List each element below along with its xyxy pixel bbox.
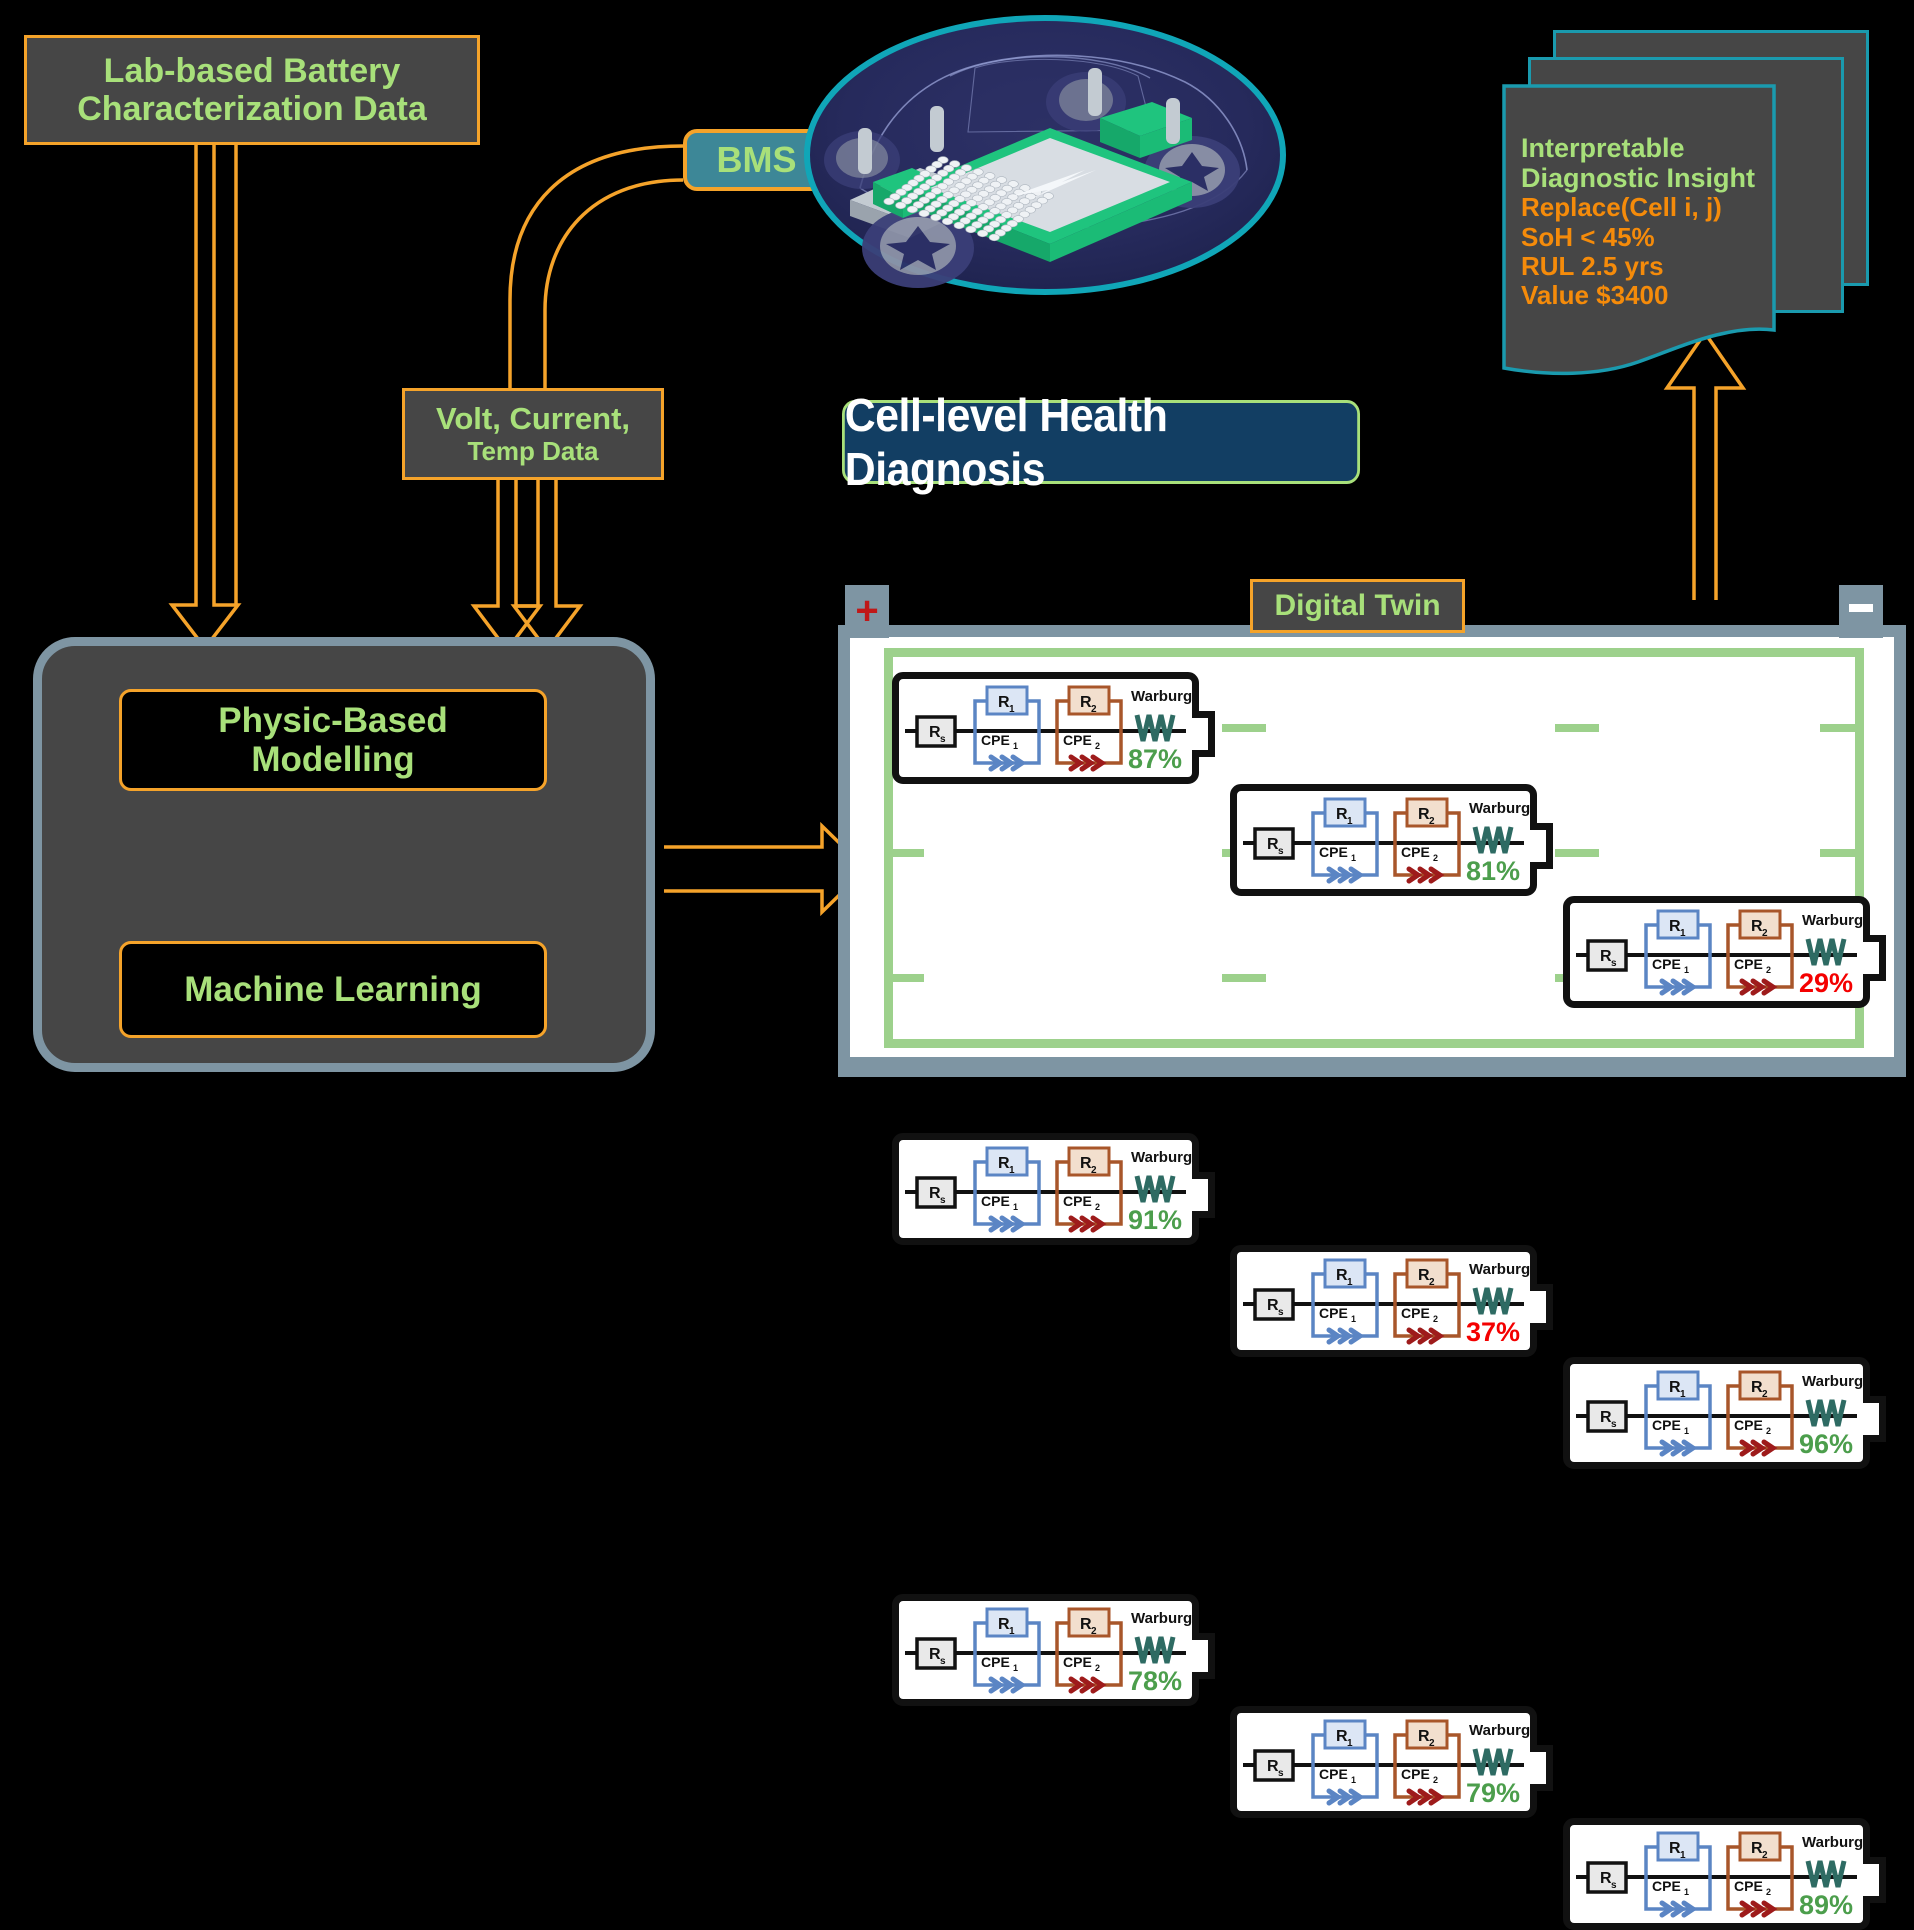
battery-terminal-nub bbox=[1530, 1745, 1553, 1791]
svg-text:Warburg: Warburg bbox=[1802, 912, 1863, 929]
svg-text:CPE: CPE bbox=[1734, 1878, 1763, 1894]
svg-text:2: 2 bbox=[1095, 1663, 1100, 1673]
svg-text:2: 2 bbox=[1433, 1314, 1438, 1324]
soh-value: 89% bbox=[1799, 1890, 1853, 1921]
svg-text:s: s bbox=[1611, 958, 1617, 969]
battery-terminal-nub bbox=[1192, 1633, 1215, 1679]
svg-text:2: 2 bbox=[1091, 1626, 1097, 1637]
svg-text:CPE: CPE bbox=[1319, 1766, 1348, 1782]
svg-text:2: 2 bbox=[1429, 816, 1435, 827]
svg-text:1: 1 bbox=[1351, 1775, 1356, 1785]
insight-heading-line2: Diagnostic Insight bbox=[1521, 163, 1821, 193]
svg-text:2: 2 bbox=[1095, 741, 1100, 751]
svg-text:Warburg: Warburg bbox=[1131, 1610, 1192, 1627]
battery-terminal-nub bbox=[1530, 1284, 1553, 1330]
svg-text:1: 1 bbox=[1347, 816, 1353, 827]
svg-text:Warburg: Warburg bbox=[1802, 1373, 1863, 1390]
svg-text:2: 2 bbox=[1091, 704, 1097, 715]
svg-text:CPE: CPE bbox=[1734, 1417, 1763, 1433]
svg-text:CPE: CPE bbox=[981, 1193, 1010, 1209]
svg-text:CPE: CPE bbox=[981, 732, 1010, 748]
battery-terminal-nub bbox=[1863, 1857, 1886, 1903]
insight-detail-3: Value $3400 bbox=[1521, 281, 1821, 310]
circuit-cell-r2c3: R s R 1 CPE 1 R 2 CPE 2 Warburg 96% bbox=[1563, 1357, 1870, 1469]
insight-detail-1: SoH < 45% bbox=[1521, 223, 1821, 252]
svg-text:2: 2 bbox=[1766, 965, 1771, 975]
svg-text:s: s bbox=[1278, 1768, 1284, 1779]
svg-text:Warburg: Warburg bbox=[1131, 1149, 1192, 1166]
battery-terminal-nub bbox=[1192, 1172, 1215, 1218]
svg-text:Warburg: Warburg bbox=[1469, 1722, 1530, 1739]
svg-text:CPE: CPE bbox=[1401, 844, 1430, 860]
svg-text:1: 1 bbox=[1684, 1426, 1689, 1436]
svg-text:1: 1 bbox=[1009, 1165, 1015, 1176]
svg-text:1: 1 bbox=[1684, 965, 1689, 975]
svg-text:2: 2 bbox=[1429, 1277, 1435, 1288]
circuit-cell-r3c1: R s R 1 CPE 1 R 2 CPE 2 Warburg 78% bbox=[892, 1594, 1199, 1706]
svg-text:Warburg: Warburg bbox=[1469, 1261, 1530, 1278]
svg-text:s: s bbox=[940, 734, 946, 745]
svg-text:CPE: CPE bbox=[1734, 956, 1763, 972]
svg-text:CPE: CPE bbox=[1319, 844, 1348, 860]
svg-text:2: 2 bbox=[1766, 1887, 1771, 1897]
svg-text:CPE: CPE bbox=[1063, 1193, 1092, 1209]
svg-text:CPE: CPE bbox=[1063, 732, 1092, 748]
svg-text:1: 1 bbox=[1009, 1626, 1015, 1637]
svg-text:2: 2 bbox=[1091, 1165, 1097, 1176]
svg-text:CPE: CPE bbox=[1401, 1766, 1430, 1782]
svg-text:s: s bbox=[940, 1195, 946, 1206]
soh-value: 79% bbox=[1466, 1778, 1520, 1809]
svg-text:CPE: CPE bbox=[1652, 1417, 1681, 1433]
svg-text:2: 2 bbox=[1429, 1738, 1435, 1749]
svg-text:2: 2 bbox=[1762, 1389, 1768, 1400]
soh-value: 91% bbox=[1128, 1205, 1182, 1236]
svg-text:CPE: CPE bbox=[1652, 956, 1681, 972]
soh-value: 96% bbox=[1799, 1429, 1853, 1460]
insight-heading-line1: Interpretable bbox=[1521, 133, 1821, 163]
battery-terminal-nub bbox=[1530, 823, 1553, 869]
diagram-canvas: Lab-based Battery Characterization Data … bbox=[0, 0, 1914, 1104]
svg-text:1: 1 bbox=[1351, 1314, 1356, 1324]
svg-text:Warburg: Warburg bbox=[1131, 688, 1192, 705]
svg-text:1: 1 bbox=[1351, 853, 1356, 863]
battery-terminal-nub bbox=[1863, 1396, 1886, 1442]
svg-text:1: 1 bbox=[1680, 1850, 1686, 1861]
svg-text:1: 1 bbox=[1013, 741, 1018, 751]
svg-text:2: 2 bbox=[1433, 853, 1438, 863]
svg-text:Warburg: Warburg bbox=[1802, 1834, 1863, 1851]
circuit-cell-r3c3: R s R 1 CPE 1 R 2 CPE 2 Warburg 89% bbox=[1563, 1818, 1870, 1930]
circuit-cell-r2c1: R s R 1 CPE 1 R 2 CPE 2 Warburg 91% bbox=[892, 1133, 1199, 1245]
circuit-cell-r1c2: R s R 1 CPE 1 R 2 CPE 2 Warburg 81% bbox=[1230, 784, 1537, 896]
svg-text:1: 1 bbox=[1009, 704, 1015, 715]
svg-text:CPE: CPE bbox=[1319, 1305, 1348, 1321]
soh-value: 29% bbox=[1799, 968, 1853, 999]
svg-text:1: 1 bbox=[1013, 1663, 1018, 1673]
insight-detail-2: RUL 2.5 yrs bbox=[1521, 252, 1821, 281]
battery-terminal-nub bbox=[1192, 711, 1215, 757]
circuit-cell-r1c1: R s R 1 CPE 1 R 2 CPE 2 Warburg 87% bbox=[892, 672, 1199, 784]
svg-text:2: 2 bbox=[1095, 1202, 1100, 1212]
soh-value: 37% bbox=[1466, 1317, 1520, 1348]
svg-text:1: 1 bbox=[1347, 1277, 1353, 1288]
svg-text:CPE: CPE bbox=[1401, 1305, 1430, 1321]
soh-value: 81% bbox=[1466, 856, 1520, 887]
svg-text:s: s bbox=[1278, 1307, 1284, 1318]
svg-text:s: s bbox=[940, 1656, 946, 1667]
circuit-cell-r3c2: R s R 1 CPE 1 R 2 CPE 2 Warburg 79% bbox=[1230, 1706, 1537, 1818]
svg-text:CPE: CPE bbox=[1652, 1878, 1681, 1894]
svg-text:1: 1 bbox=[1680, 928, 1686, 939]
svg-text:1: 1 bbox=[1680, 1389, 1686, 1400]
insight-card-text: Interpretable Diagnostic Insight Replace… bbox=[1521, 133, 1821, 310]
svg-text:1: 1 bbox=[1684, 1887, 1689, 1897]
soh-value: 87% bbox=[1128, 744, 1182, 775]
svg-text:1: 1 bbox=[1347, 1738, 1353, 1749]
svg-text:CPE: CPE bbox=[981, 1654, 1010, 1670]
svg-text:s: s bbox=[1611, 1419, 1617, 1430]
insight-detail-0: Replace(Cell i, j) bbox=[1521, 193, 1821, 222]
svg-text:2: 2 bbox=[1433, 1775, 1438, 1785]
svg-text:2: 2 bbox=[1762, 928, 1768, 939]
svg-text:Warburg: Warburg bbox=[1469, 800, 1530, 817]
soh-value: 78% bbox=[1128, 1666, 1182, 1697]
svg-text:s: s bbox=[1278, 846, 1284, 857]
battery-terminal-nub bbox=[1863, 935, 1886, 981]
svg-text:CPE: CPE bbox=[1063, 1654, 1092, 1670]
svg-text:s: s bbox=[1611, 1880, 1617, 1891]
svg-text:2: 2 bbox=[1766, 1426, 1771, 1436]
circuit-cell-r1c3: R s R 1 CPE 1 R 2 CPE 2 Warburg 29% bbox=[1563, 896, 1870, 1008]
svg-text:1: 1 bbox=[1013, 1202, 1018, 1212]
svg-text:2: 2 bbox=[1762, 1850, 1768, 1861]
circuit-cell-r2c2: R s R 1 CPE 1 R 2 CPE 2 Warburg 37% bbox=[1230, 1245, 1537, 1357]
